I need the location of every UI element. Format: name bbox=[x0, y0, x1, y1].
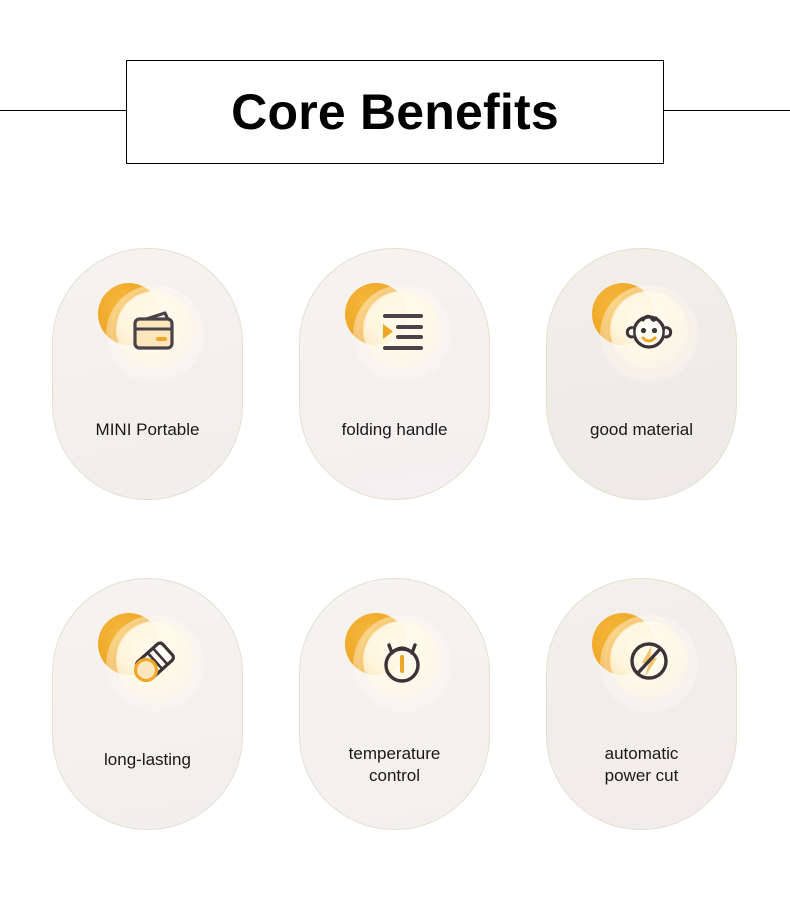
benefit-label: folding handle bbox=[300, 419, 489, 441]
page-header: Core Benefits bbox=[0, 0, 790, 200]
benefit-card-temperature-control[interactable]: temperature control bbox=[299, 578, 490, 830]
benefit-card-mini-portable[interactable]: MINI Portable bbox=[52, 248, 243, 500]
icon-cluster bbox=[90, 607, 210, 717]
thermostat-icon bbox=[367, 625, 437, 695]
icon-cluster bbox=[90, 277, 210, 387]
list-lines-icon bbox=[367, 295, 437, 365]
header-rule-left bbox=[0, 110, 126, 111]
core-benefits-page: Core Benefits MINI Portable bbox=[0, 0, 790, 918]
benefit-card-folding-handle[interactable]: folding handle bbox=[299, 248, 490, 500]
icon-cluster bbox=[584, 277, 704, 387]
benefit-label: good material bbox=[547, 419, 736, 441]
benefits-grid: MINI Portable folding handle bbox=[52, 248, 738, 830]
benefit-label: long-lasting bbox=[53, 749, 242, 771]
battery-cell-icon bbox=[120, 625, 190, 695]
baby-face-icon bbox=[614, 295, 684, 365]
page-title: Core Benefits bbox=[231, 87, 559, 137]
icon-cluster bbox=[337, 277, 457, 387]
benefit-card-automatic-power-cut[interactable]: automatic power cut bbox=[546, 578, 737, 830]
header-rule-right bbox=[664, 110, 790, 111]
benefit-label: temperature control bbox=[300, 743, 489, 787]
power-off-slash-icon bbox=[614, 625, 684, 695]
benefit-card-good-material[interactable]: good material bbox=[546, 248, 737, 500]
icon-cluster bbox=[584, 607, 704, 717]
wallet-icon bbox=[120, 295, 190, 365]
benefit-label: automatic power cut bbox=[547, 743, 736, 787]
benefit-label: MINI Portable bbox=[53, 419, 242, 441]
icon-cluster bbox=[337, 607, 457, 717]
title-box: Core Benefits bbox=[126, 60, 664, 164]
benefit-card-long-lasting[interactable]: long-lasting bbox=[52, 578, 243, 830]
